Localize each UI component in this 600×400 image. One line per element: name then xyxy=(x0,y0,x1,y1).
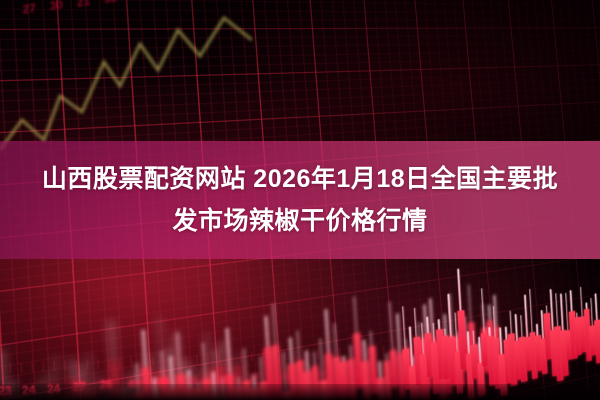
x-axis-tick-label: 29 xyxy=(350,369,361,382)
banner-image: 27 30 21 38 27 40 2324242726432810291719… xyxy=(0,0,600,400)
page-title: 山西股票配资网站 2026年1月18日全国主要批 发市场辣椒干价格行情 xyxy=(0,141,600,259)
x-axis-tick-label: 34 xyxy=(315,370,326,383)
x-axis-tick-label: 19 xyxy=(281,372,293,385)
title-line-1: 山西股票配资网站 2026年1月18日全国主要批 xyxy=(42,158,558,200)
footer-shadow-band xyxy=(0,384,600,400)
x-axis-tick-label: 31 xyxy=(385,367,396,380)
title-line-2: 发市场辣椒干价格行情 xyxy=(172,200,427,242)
